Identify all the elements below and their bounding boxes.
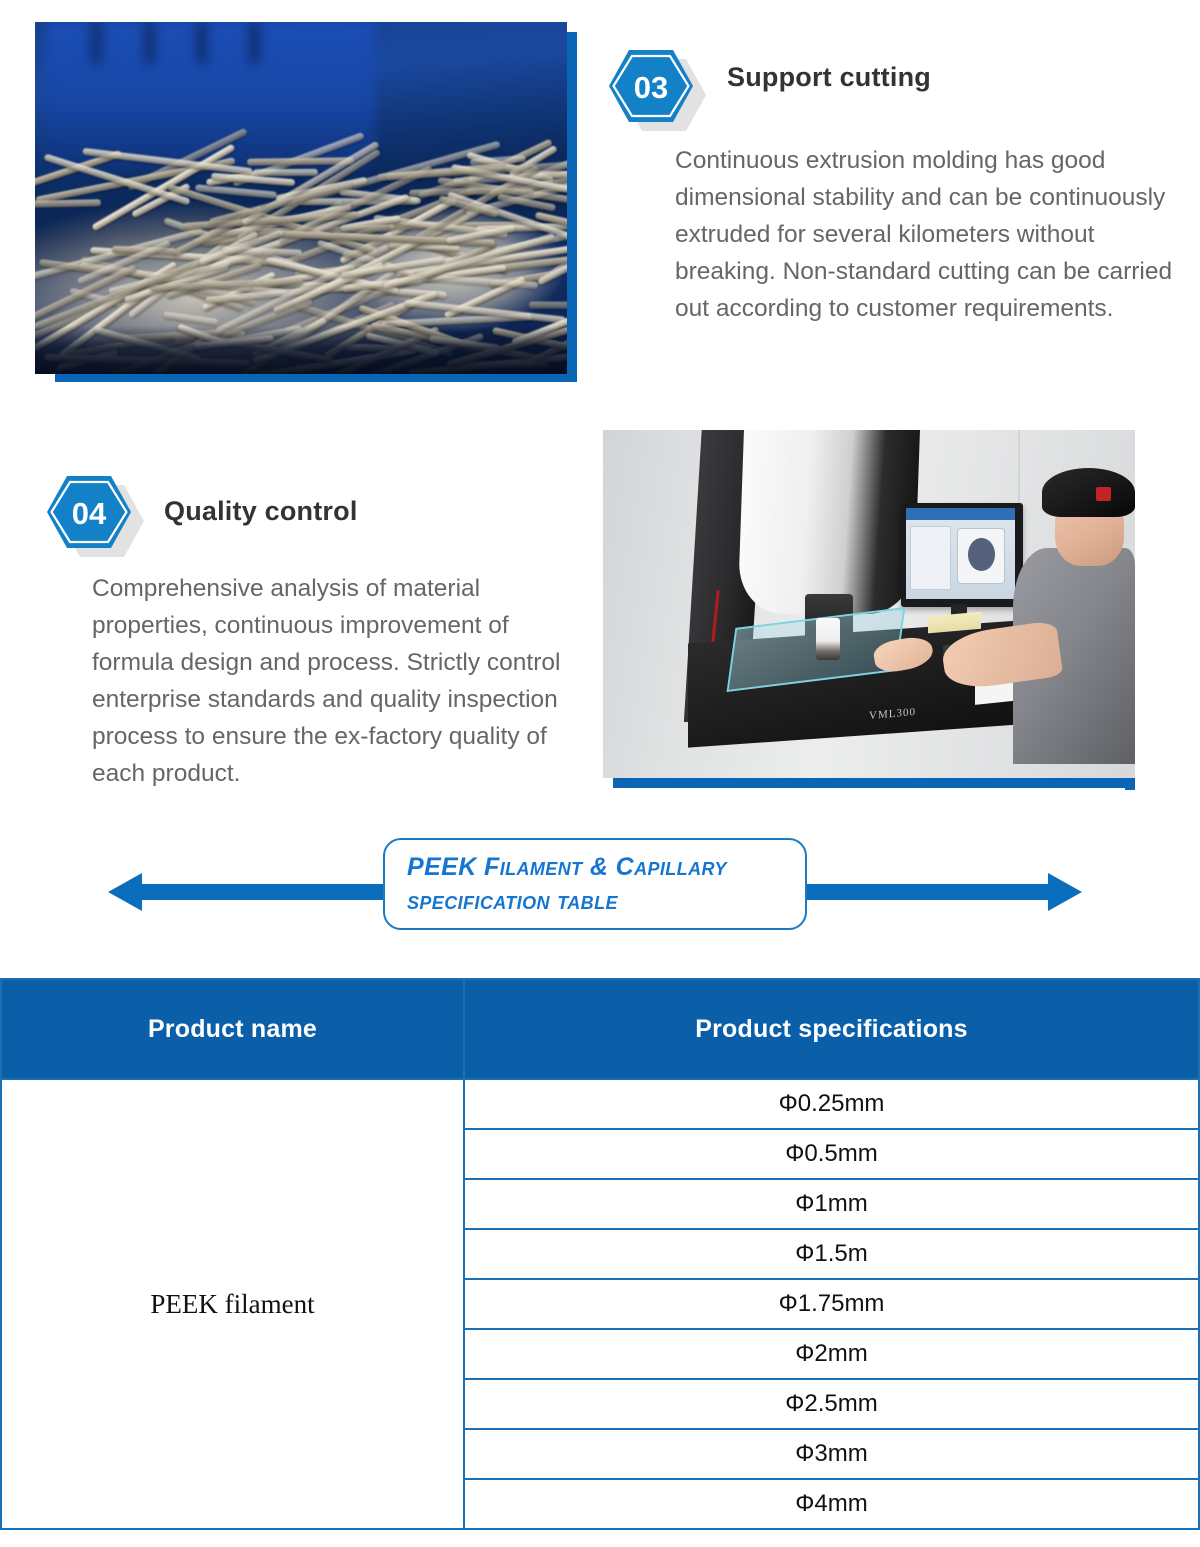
table-header-product-specifications: Product specifications bbox=[464, 979, 1199, 1079]
cell-product-specification: Φ0.5mm bbox=[464, 1129, 1199, 1179]
peek-rods-photo-frame bbox=[22, 10, 582, 382]
cell-product-specification: Φ4mm bbox=[464, 1479, 1199, 1529]
table-header-row: Product name Product specifications bbox=[1, 979, 1199, 1079]
peek-rods-photo bbox=[35, 22, 567, 374]
banner-title-box: PEEK Filament & Capillary specification … bbox=[383, 838, 807, 930]
section-banner: PEEK Filament & Capillary specification … bbox=[0, 838, 1200, 946]
specification-table: Product name Product specifications PEEK… bbox=[0, 978, 1200, 1530]
step-number-text-03: 03 bbox=[634, 70, 668, 105]
photo-frame-right-bar bbox=[567, 32, 577, 382]
cell-product-specification: Φ2mm bbox=[464, 1329, 1199, 1379]
step-number-badge-04: 04 bbox=[46, 474, 132, 550]
step-body-04: Comprehensive analysis of material prope… bbox=[92, 570, 592, 792]
arrow-right-icon bbox=[792, 869, 1082, 915]
cell-product-specification: Φ2.5mm bbox=[464, 1379, 1199, 1429]
banner-title-line-1: PEEK Filament & Capillary bbox=[407, 850, 805, 884]
banner-title-line-2: specification table bbox=[407, 884, 805, 918]
step-number-badge-03: 03 bbox=[608, 48, 694, 124]
table-row: PEEK filamentΦ0.25mm bbox=[1, 1079, 1199, 1129]
cell-product-specification: Φ3mm bbox=[464, 1429, 1199, 1479]
table-header-product-name: Product name bbox=[1, 979, 464, 1079]
table-head: Product name Product specifications bbox=[1, 979, 1199, 1079]
cell-product-name: PEEK filament bbox=[1, 1079, 464, 1529]
step-title-04: Quality control bbox=[164, 496, 358, 527]
quality-inspection-photo-frame: VML300 bbox=[603, 430, 1155, 790]
cell-product-specification: Φ1mm bbox=[464, 1179, 1199, 1229]
sample-bottle bbox=[816, 618, 840, 660]
arrow-left-icon bbox=[108, 869, 398, 915]
rod-bundle bbox=[35, 22, 567, 374]
quality-inspection-photo: VML300 bbox=[603, 430, 1135, 778]
hexagon-icon: 04 bbox=[46, 474, 132, 550]
monitor-screen bbox=[906, 508, 1015, 598]
cell-product-specification: Φ1.5m bbox=[464, 1229, 1199, 1279]
step-number-text-04: 04 bbox=[72, 496, 107, 531]
step-title-03: Support cutting bbox=[727, 62, 931, 93]
table-body: PEEK filamentΦ0.25mmΦ0.5mmΦ1mmΦ1.5mΦ1.75… bbox=[1, 1079, 1199, 1529]
operator-cap bbox=[1042, 468, 1135, 517]
cell-product-specification: Φ0.25mm bbox=[464, 1079, 1199, 1129]
projector-hood bbox=[738, 430, 920, 614]
step-body-03: Continuous extrusion molding has good di… bbox=[675, 142, 1185, 327]
hexagon-icon: 03 bbox=[608, 48, 694, 124]
cell-product-specification: Φ1.75mm bbox=[464, 1279, 1199, 1329]
